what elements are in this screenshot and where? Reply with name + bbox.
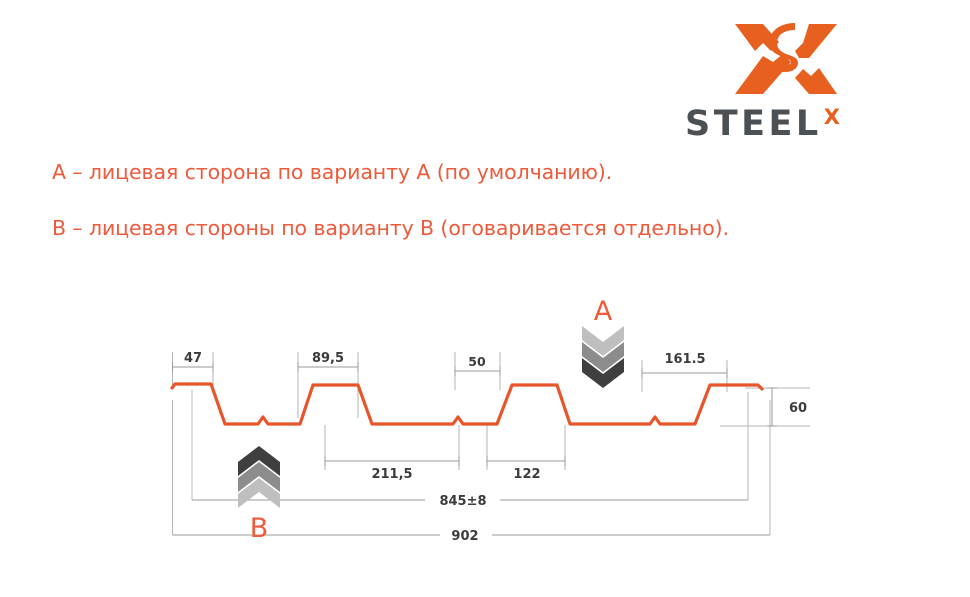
dimension-89-5: 89,5 — [298, 351, 358, 372]
dimension-60: 60 — [767, 388, 807, 426]
dimension-47: 47 — [173, 351, 214, 372]
dimension-89-5-label: 89,5 — [312, 351, 344, 366]
dimension-211-5-label: 211,5 — [371, 467, 412, 482]
dimension-161-5: 161.5 — [642, 352, 727, 378]
profile-section-line — [172, 384, 762, 424]
extension-lines — [173, 352, 811, 535]
dimension-211-5: 211,5 — [325, 456, 459, 482]
dimension-50-label: 50 — [468, 354, 486, 369]
chevron-down-triple-icon — [582, 326, 624, 388]
dimension-50: 50 — [455, 354, 500, 376]
dimension-845-label: 845±8 — [439, 494, 486, 509]
marker-a: A — [582, 296, 624, 388]
marker-b-label: B — [250, 513, 269, 544]
dimension-122: 122 — [487, 456, 565, 482]
chevron-up-triple-icon — [238, 446, 280, 508]
marker-b: B — [238, 446, 280, 544]
dimension-122-label: 122 — [513, 467, 540, 482]
dimension-161-5-label: 161.5 — [664, 352, 705, 367]
dimension-47-label: 47 — [184, 351, 202, 366]
dimension-902-label: 902 — [451, 529, 478, 544]
profile-technical-drawing: 47 89,5 50 161.5 60 211,5 — [0, 0, 970, 597]
marker-a-label: A — [594, 296, 613, 327]
dimension-60-label: 60 — [789, 401, 807, 416]
